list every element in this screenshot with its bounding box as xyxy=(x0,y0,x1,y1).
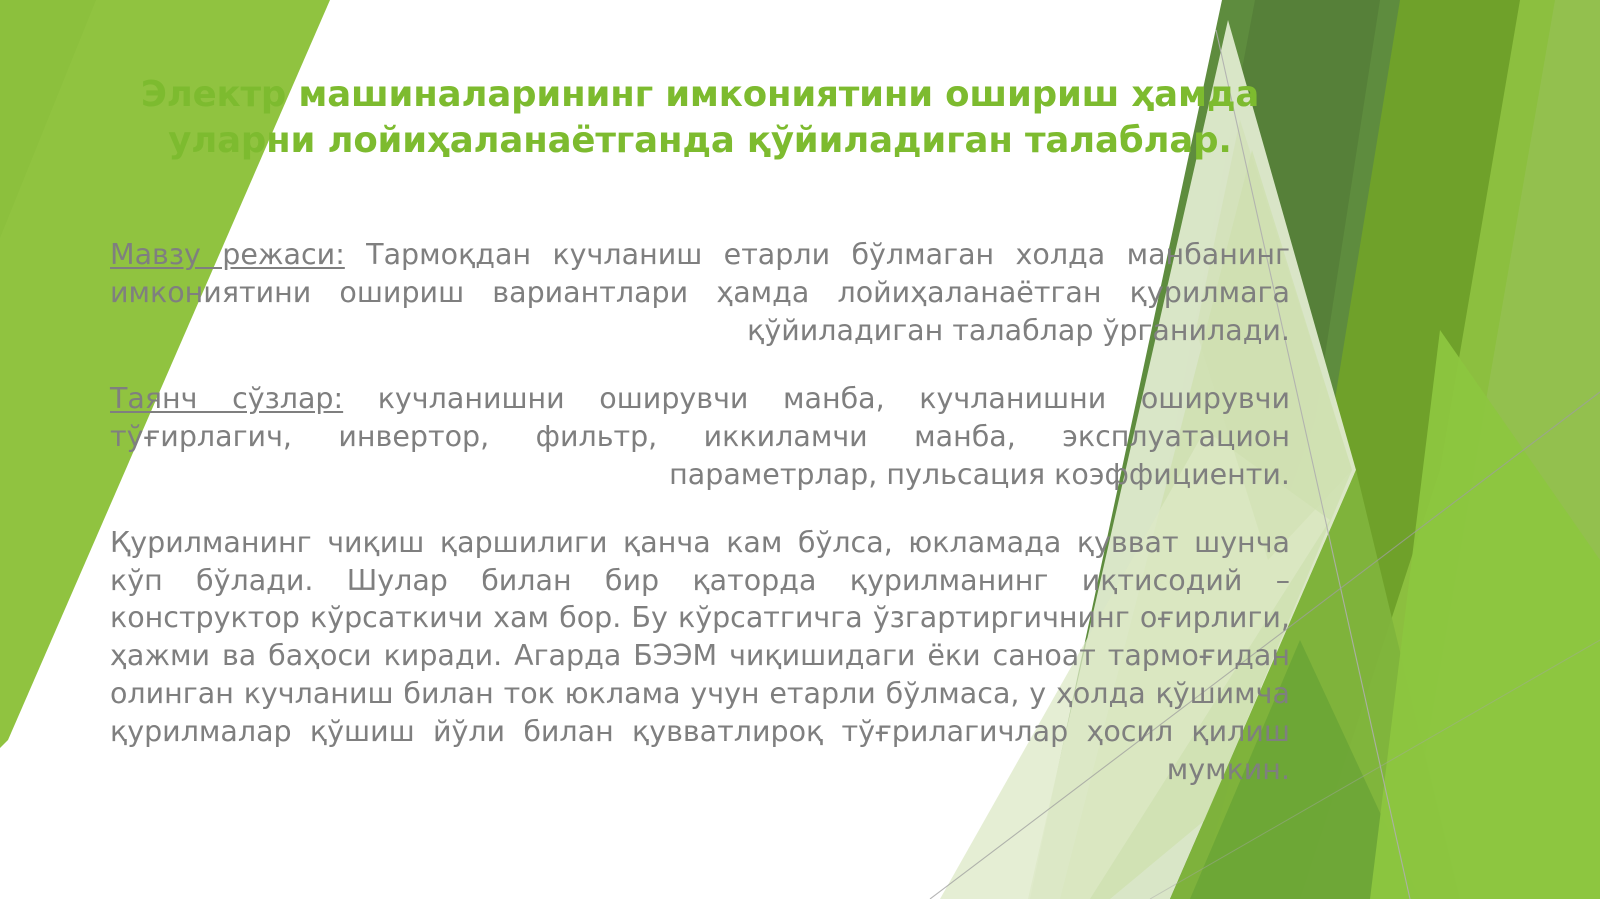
presentation-slide: Электр машиналарининг имкониятини ошириш… xyxy=(0,0,1600,899)
topic-plan-label: Мавзу режаси: xyxy=(110,238,345,271)
left-green-wedge-shade xyxy=(0,0,96,238)
bright-green-lower-right-facet xyxy=(1370,330,1600,899)
paragraph-topic-plan: Мавзу режаси: Тармоқдан кучланиш етарли … xyxy=(110,236,1290,350)
page-title: Электр машиналарининг имкониятини ошириш… xyxy=(110,72,1290,164)
slide-content: Электр машиналарининг имкониятини ошириш… xyxy=(110,72,1290,789)
key-words-label: Таянч сўзлар: xyxy=(110,382,343,415)
paragraph-main-body: Қурилманинг чиқиш қаршилиги қанча кам бў… xyxy=(110,524,1290,789)
paragraph-key-words: Таянч сўзлар: кучланишни оширувчи манба,… xyxy=(110,380,1290,494)
right-edge-light-strip xyxy=(1400,0,1600,899)
